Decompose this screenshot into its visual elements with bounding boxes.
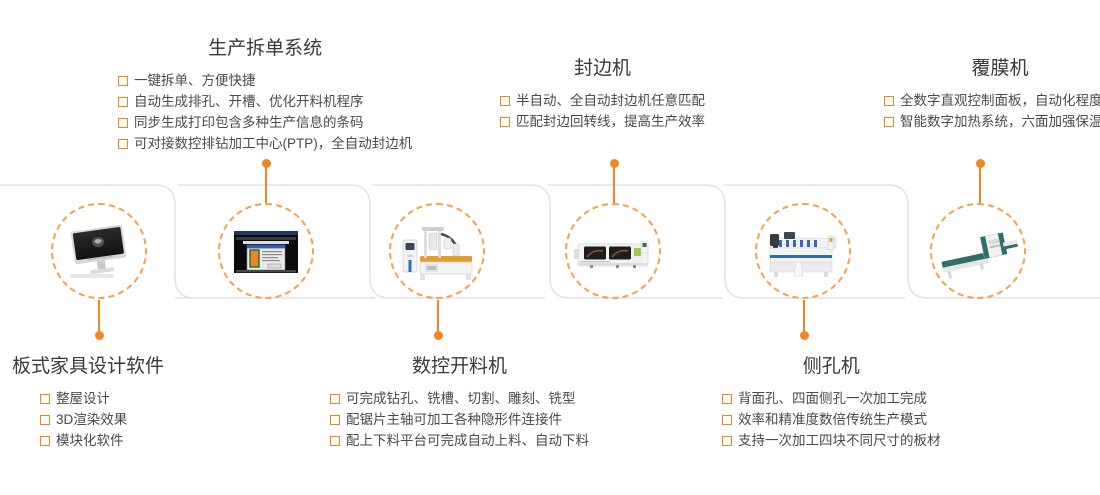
connector-stem-design-software [98,300,100,336]
block-cnc-cutting-machine: 数控开料机 可完成钻孔、铣槽、切割、雕刻、铣型 配锯片主轴可加工各种隐形件连接件… [330,356,589,451]
connector-dot [434,331,443,340]
block-title: 侧孔机 [722,356,941,379]
block-title: 覆膜机 [884,58,1100,81]
laminating-machine-icon [935,208,1021,294]
feature-list: 背面孔、四面侧孔一次加工完成 效率和精准度数倍传统生产模式 支持一次加工四块不同… [722,388,941,451]
cnc-router-icon [394,208,480,294]
feature-item: 配上下料平台可完成自动上料、自动下料 [330,430,589,451]
block-edge-banding-machine: 封边机 半自动、全自动封边机任意匹配 匹配封边回转线，提高生产效率 [500,58,705,132]
feature-list: 全数字直观控制面板，自动化程度高 智能数字加热系统，六面加强保温 [884,90,1100,132]
block-design-software: 板式家具设计软件 整屋设计 3D渲染效果 模块化软件 [12,356,164,451]
feature-list: 一键拆单、方便快捷 自动生成排孔、开槽、优化开料机程序 同步生成打印包含多种生产… [118,70,412,154]
connector-stem-edge-banding [613,163,615,203]
node-edge-bander[interactable] [565,203,661,299]
block-laminating-machine: 覆膜机 全数字直观控制面板，自动化程度高 智能数字加热系统，六面加强保温 [884,58,1100,132]
node-monitor[interactable] [51,203,147,299]
connector-stem-order-splitting [265,163,267,203]
process-flow-diagram: 生产拆单系统 一键拆单、方便快捷 自动生成排孔、开槽、优化开料机程序 同步生成打… [0,0,1100,495]
block-title: 封边机 [500,58,705,81]
feature-item: 匹配封边回转线，提高生产效率 [500,111,705,132]
block-side-hole-machine: 侧孔机 背面孔、四面侧孔一次加工完成 效率和精准度数倍传统生产模式 支持一次加工… [722,356,941,451]
feature-item: 半自动、全自动封边机任意匹配 [500,90,705,111]
block-order-splitting-system: 生产拆单系统 一键拆单、方便快捷 自动生成排孔、开槽、优化开料机程序 同步生成打… [118,38,412,154]
feature-item: 全数字直观控制面板，自动化程度高 [884,90,1100,111]
feature-item: 自动生成排孔、开槽、优化开料机程序 [118,91,412,112]
edge-banding-machine-icon [570,208,656,294]
feature-item: 背面孔、四面侧孔一次加工完成 [722,388,941,409]
node-software-screen[interactable] [218,203,314,299]
connector-dot [976,159,985,168]
feature-item: 整屋设计 [40,388,164,409]
feature-item: 3D渲染效果 [40,409,164,430]
feature-item: 支持一次加工四块不同尺寸的板材 [722,430,941,451]
node-side-driller[interactable] [755,203,851,299]
node-laminator[interactable] [930,203,1026,299]
connector-dot [95,331,104,340]
block-title: 板式家具设计软件 [12,356,164,379]
connector-dot [262,159,271,168]
feature-item: 模块化软件 [40,430,164,451]
connector-stem-laminating [979,163,981,203]
connector-dot [610,159,619,168]
desktop-monitor-icon [56,208,142,294]
block-title: 生产拆单系统 [118,38,412,61]
feature-list: 整屋设计 3D渲染效果 模块化软件 [40,388,164,451]
feature-list: 可完成钻孔、铣槽、切割、雕刻、铣型 配锯片主轴可加工各种隐形件连接件 配上下料平… [330,388,589,451]
feature-item: 一键拆单、方便快捷 [118,70,412,91]
side-hole-machine-icon [760,208,846,294]
connector-dot [800,331,809,340]
block-title: 数控开料机 [330,356,589,379]
software-screen-icon [223,208,309,294]
feature-item: 可完成钻孔、铣槽、切割、雕刻、铣型 [330,388,589,409]
connector-stem-side-hole [803,300,805,336]
feature-list: 半自动、全自动封边机任意匹配 匹配封边回转线，提高生产效率 [500,90,705,132]
feature-item: 智能数字加热系统，六面加强保温 [884,111,1100,132]
connector-stem-cnc-cutting [437,300,439,336]
feature-item: 配锯片主轴可加工各种隐形件连接件 [330,409,589,430]
feature-item: 可对接数控排钻加工中心(PTP)，全自动封边机 [118,133,412,154]
feature-item: 效率和精准度数倍传统生产模式 [722,409,941,430]
node-cnc-router[interactable] [389,203,485,299]
feature-item: 同步生成打印包含多种生产信息的条码 [118,112,412,133]
